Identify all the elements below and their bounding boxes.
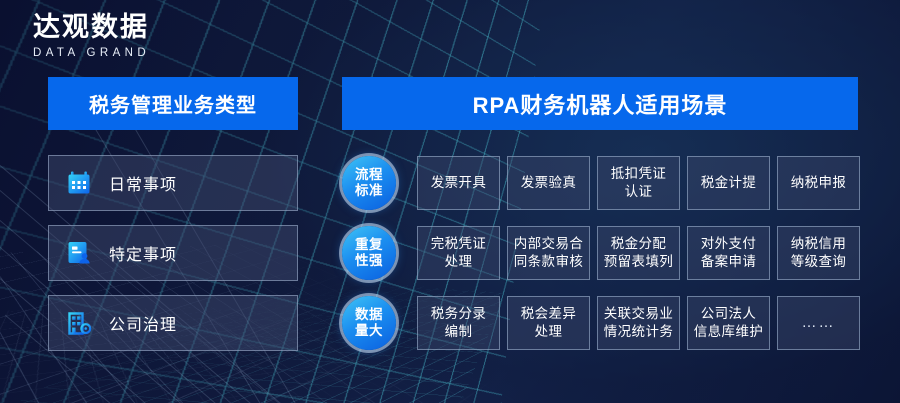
cell-line: 发票开具 bbox=[431, 174, 487, 192]
cell-line: 认证 bbox=[611, 183, 667, 201]
scenario-cell[interactable]: 对外支付备案申请 bbox=[687, 226, 770, 280]
badge-line-1: 数据 bbox=[355, 307, 383, 323]
left-item-corporate-governance[interactable]: 公司治理 bbox=[48, 295, 298, 351]
scenario-cell[interactable]: 完税凭证处理 bbox=[417, 226, 500, 280]
left-item-specific-affairs[interactable]: 特定事项 bbox=[48, 225, 298, 281]
scenario-row: 数据 量大 税务分录编制 税会差异处理 关联交易业情况统计务 公司法人信息库维护… bbox=[342, 296, 860, 350]
scenario-cell[interactable]: 发票开具 bbox=[417, 156, 500, 210]
scenario-row: 流程 标准 发票开具 发票验真 抵扣凭证认证 税金计提 纳税申报 bbox=[342, 156, 860, 210]
cell-line: 处理 bbox=[431, 253, 487, 271]
cell-line: 纳税信用 bbox=[791, 235, 847, 253]
left-item-label: 日常事项 bbox=[109, 171, 177, 195]
scenario-cell[interactable]: 内部交易合同条款审核 bbox=[507, 226, 590, 280]
calendar-icon bbox=[49, 170, 109, 196]
badge-line-2: 性强 bbox=[355, 253, 383, 269]
cell-line: 情况统计务 bbox=[604, 323, 674, 341]
scenario-badge: 重复 性强 bbox=[342, 226, 396, 280]
scenario-cell[interactable]: 税务分录编制 bbox=[417, 296, 500, 350]
scenario-cell[interactable]: 纳税申报 bbox=[777, 156, 860, 210]
slide-canvas: 达观数据 DATA GRAND 税务管理业务类型 RPA财务机器人适用场景 bbox=[0, 0, 900, 403]
scenario-cell[interactable]: 纳税信用等级查询 bbox=[777, 226, 860, 280]
cell-line: 内部交易合 bbox=[514, 235, 584, 253]
badge-line-1: 重复 bbox=[355, 237, 383, 253]
cell-line: 同条款审核 bbox=[514, 253, 584, 271]
building-gear-icon bbox=[49, 310, 109, 337]
cell-line: 备案申请 bbox=[701, 253, 757, 271]
cell-line: 对外支付 bbox=[701, 235, 757, 253]
scenario-badge: 数据 量大 bbox=[342, 296, 396, 350]
left-item-label: 公司治理 bbox=[109, 311, 177, 335]
scenario-cell[interactable]: 税金计提 bbox=[687, 156, 770, 210]
cell-line: 税会差异 bbox=[521, 305, 577, 323]
document-person-icon bbox=[49, 240, 109, 266]
scenario-cell[interactable]: 税金分配预留表填列 bbox=[597, 226, 680, 280]
brand-name-cn: 达观数据 bbox=[33, 12, 150, 43]
scenario-cell[interactable]: 抵扣凭证认证 bbox=[597, 156, 680, 210]
cell-line: 发票验真 bbox=[521, 174, 577, 192]
badge-line-2: 标准 bbox=[355, 183, 383, 199]
brand-name-en: DATA GRAND bbox=[33, 47, 150, 59]
scenario-cell-ellipsis[interactable]: …… bbox=[777, 296, 860, 350]
cell-line: 信息库维护 bbox=[694, 323, 764, 341]
left-item-daily-affairs[interactable]: 日常事项 bbox=[48, 155, 298, 211]
cell-line: 关联交易业 bbox=[604, 305, 674, 323]
scenario-cell[interactable]: 税会差异处理 bbox=[507, 296, 590, 350]
cell-line: 编制 bbox=[431, 323, 487, 341]
scenario-badge: 流程 标准 bbox=[342, 156, 396, 210]
cell-line: 税务分录 bbox=[431, 305, 487, 323]
scenario-cell[interactable]: 关联交易业情况统计务 bbox=[597, 296, 680, 350]
cell-line: 公司法人 bbox=[694, 305, 764, 323]
left-panel-header: 税务管理业务类型 bbox=[48, 77, 298, 130]
cell-line: 完税凭证 bbox=[431, 235, 487, 253]
scenario-row: 重复 性强 完税凭证处理 内部交易合同条款审核 税金分配预留表填列 对外支付备案… bbox=[342, 226, 860, 280]
cell-line: 纳税申报 bbox=[791, 174, 847, 192]
scenario-cell[interactable]: 发票验真 bbox=[507, 156, 590, 210]
cell-line: 抵扣凭证 bbox=[611, 165, 667, 183]
right-panel-header: RPA财务机器人适用场景 bbox=[342, 77, 858, 130]
badge-line-2: 量大 bbox=[355, 323, 383, 339]
left-item-label: 特定事项 bbox=[109, 241, 177, 265]
cell-line: 税金分配 bbox=[604, 235, 674, 253]
cell-line: 处理 bbox=[521, 323, 577, 341]
cell-line: 预留表填列 bbox=[604, 253, 674, 271]
cell-line: 等级查询 bbox=[791, 253, 847, 271]
cell-line: …… bbox=[802, 313, 836, 333]
brand-logo: 达观数据 DATA GRAND bbox=[33, 12, 150, 59]
scenario-cell[interactable]: 公司法人信息库维护 bbox=[687, 296, 770, 350]
cell-line: 税金计提 bbox=[701, 174, 757, 192]
badge-line-1: 流程 bbox=[355, 167, 383, 183]
